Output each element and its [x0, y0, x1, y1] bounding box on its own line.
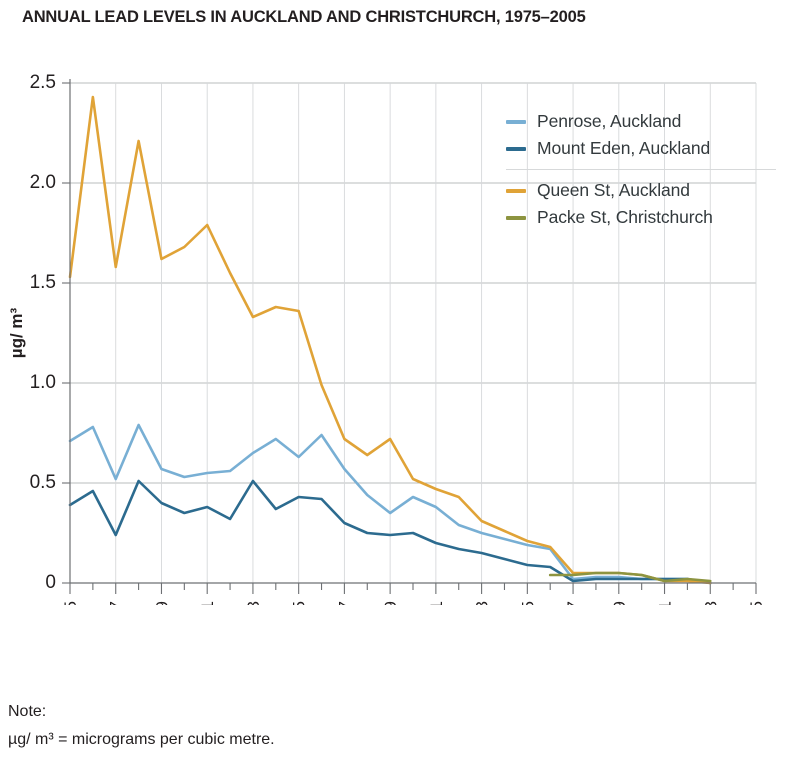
chart-legend: Penrose, Auckland Mount Eden, Auckland Q…: [506, 108, 776, 231]
x-tick-label: 1985: [290, 601, 309, 605]
x-tick-label: 1997: [564, 601, 583, 605]
legend-color-swatch-packe-st: [506, 216, 526, 220]
x-tick-label: 1987: [335, 601, 354, 605]
legend-label-queen-st: Queen St, Auckland: [537, 180, 690, 201]
legend-color-swatch-queen-st: [506, 189, 526, 193]
y-tick-label: 2.0: [30, 172, 56, 193]
x-tick-label: 1977: [107, 601, 126, 605]
y-tick-label: 1.5: [30, 272, 56, 293]
x-axis-tick-labels: 1975197719791981198319851987198919911993…: [61, 601, 766, 605]
x-tick-label: 1991: [427, 601, 446, 605]
legend-group-auckland-monitor: Penrose, Auckland Mount Eden, Auckland: [506, 108, 776, 162]
x-tick-label: 1975: [61, 601, 80, 605]
legend-label-penrose: Penrose, Auckland: [537, 111, 681, 132]
y-tick-label: 2.5: [30, 72, 56, 93]
x-tick-label: 1983: [244, 601, 263, 605]
legend-item[interactable]: Penrose, Auckland: [506, 108, 776, 135]
y-tick-label: 0: [45, 572, 56, 593]
x-tick-label: 2001: [656, 601, 675, 605]
legend-color-swatch-penrose: [506, 120, 526, 124]
x-tick-label: 1989: [381, 601, 400, 605]
x-tick-label: 2003: [701, 601, 720, 605]
x-tick-label: 1981: [198, 601, 217, 605]
legend-label-packe-st: Packe St, Christchurch: [537, 207, 713, 228]
y-tick-marks: [62, 83, 70, 583]
y-tick-label: 0.5: [30, 472, 56, 493]
legend-group-street-monitor: Queen St, Auckland Packe St, Christchurc…: [506, 177, 776, 231]
note-text: µg/ m³ = micrograms per cubic metre.: [8, 726, 275, 754]
x-tick-label: 2005: [747, 601, 766, 605]
legend-item[interactable]: Packe St, Christchurch: [506, 204, 776, 231]
y-axis-title: µg/ m³: [7, 307, 26, 358]
y-axis-tick-labels: 00.51.01.52.02.5: [30, 72, 56, 593]
x-tick-label: 1993: [473, 601, 492, 605]
note-heading: Note:: [8, 698, 275, 726]
x-tick-label: 1999: [610, 601, 629, 605]
page-title: ANNUAL LEAD LEVELS IN AUCKLAND AND CHRIS…: [22, 8, 586, 27]
x-tick-label: 1995: [518, 601, 537, 605]
legend-item[interactable]: Queen St, Auckland: [506, 177, 776, 204]
x-tick-label: 1979: [152, 601, 171, 605]
legend-divider: [506, 169, 776, 170]
legend-color-swatch-mount-eden: [506, 147, 526, 151]
legend-item[interactable]: Mount Eden, Auckland: [506, 135, 776, 162]
chart-note: Note: µg/ m³ = micrograms per cubic metr…: [8, 698, 275, 754]
legend-label-mount-eden: Mount Eden, Auckland: [537, 138, 710, 159]
y-tick-label: 1.0: [30, 372, 56, 393]
